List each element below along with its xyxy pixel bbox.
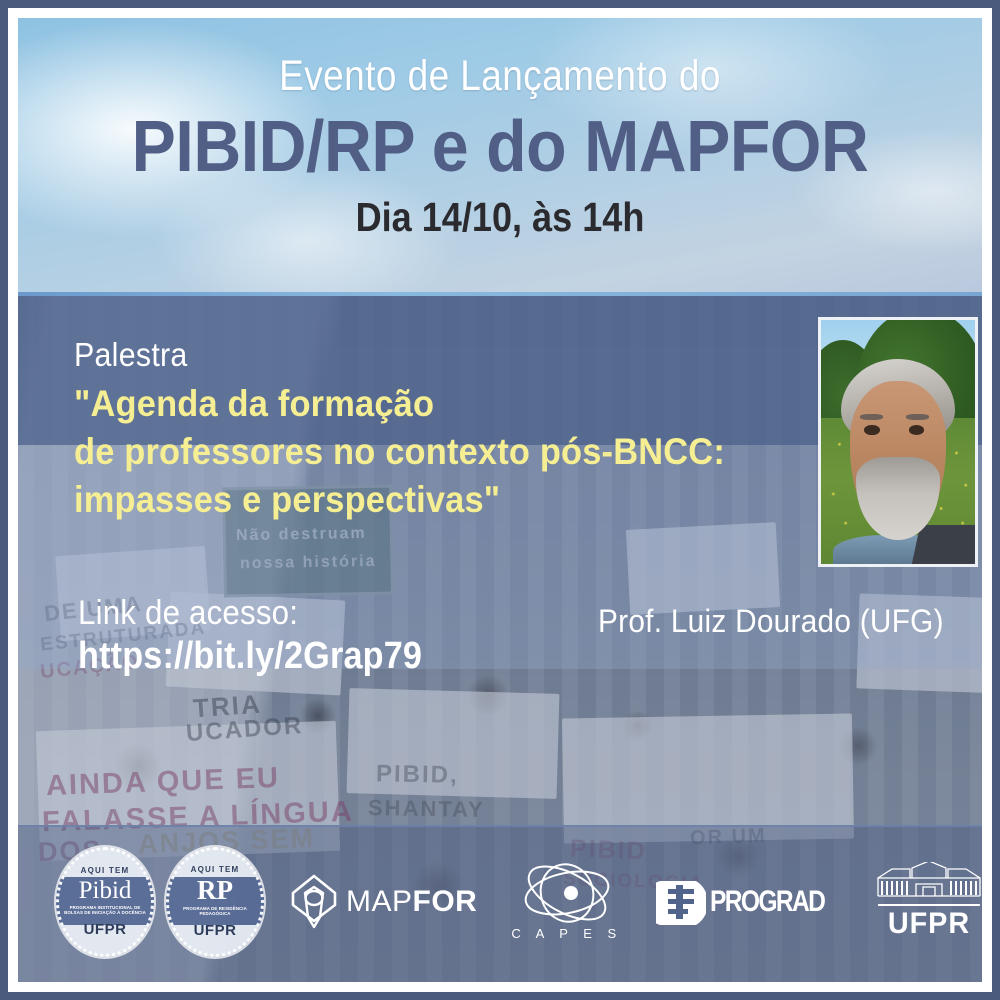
page-title: PIBID/RP e do MAPFOR	[57, 111, 944, 183]
access-link-block: Link de acesso: https://bit.ly/2Grap79	[78, 594, 460, 678]
prograd-mark-icon	[656, 875, 706, 929]
pibid-seal-institution: UFPR	[56, 921, 154, 938]
rp-seal-institution: UFPR	[166, 922, 264, 939]
protest-banner	[562, 713, 854, 843]
event-kicker: Evento de Lançamento do	[85, 54, 914, 99]
capes-atom-icon	[521, 862, 613, 924]
poster-root: TRIAUCADORAINDA QUE EUFALASSE A LÍNGUADO…	[0, 0, 1000, 1000]
portrait-eye	[864, 425, 879, 435]
prograd-logo: PROGRAD	[656, 875, 849, 929]
rp-seal: AQUI TEM RP PROGRAMA DE RESIDÊNCIA PEDAG…	[166, 847, 264, 957]
mapfor-logo: MAPFOR	[290, 873, 477, 931]
pibid-seal-subtitle: PROGRAMA INSTITUCIONAL DE BOLSAS DE INIC…	[56, 905, 154, 916]
talk-title: "Agenda da formação de professores no co…	[74, 380, 725, 524]
mapfor-mark-icon	[290, 873, 338, 931]
poster-header: Evento de Lançamento do PIBID/RP e do MA…	[18, 18, 982, 296]
speaker-name: Prof. Luiz Dourado (UFG)	[598, 603, 944, 640]
capes-wordmark: C A P E S	[511, 926, 622, 941]
pibid-seal: AQUI TEM Pibid PROGRAMA INSTITUCIONAL DE…	[56, 847, 154, 957]
ufpr-wordmark: UFPR	[878, 904, 980, 941]
event-datetime: Dia 14/10, às 14h	[76, 197, 924, 238]
pibid-seal-wordmark: Pibid	[56, 878, 154, 903]
pibid-seal-top-label: AQUI TEM	[56, 866, 154, 875]
poster-canvas: TRIAUCADORAINDA QUE EUFALASSE A LÍNGUADO…	[18, 18, 982, 982]
partner-logo-strip: AQUI TEM Pibid PROGRAMA INSTITUCIONAL DE…	[18, 825, 982, 982]
portrait-eye	[909, 425, 924, 435]
rp-seal-wordmark: RP	[166, 877, 264, 904]
mapfor-wordmark: MAPFOR	[346, 885, 477, 919]
ufpr-building-icon	[876, 862, 982, 902]
protest-sign-text: TRIA	[192, 689, 263, 725]
ufpr-logo: UFPR	[876, 862, 982, 941]
talk-block: Palestra "Agenda da formação de professo…	[74, 336, 774, 524]
protest-sign-text: SHANTAY	[368, 795, 485, 823]
protest-banner	[626, 522, 780, 615]
rp-logo: AQUI TEM RP PROGRAMA DE RESIDÊNCIA PEDAG…	[166, 847, 264, 957]
mapfor-wordmark-light: MAP	[346, 885, 413, 918]
capes-logo: C A P E S	[511, 862, 622, 941]
rp-seal-top-label: AQUI TEM	[166, 865, 264, 874]
portrait-eyebrow	[860, 414, 883, 420]
prograd-wordmark: PROGRAD	[710, 885, 824, 919]
pibid-logo: AQUI TEM Pibid PROGRAMA INSTITUCIONAL DE…	[56, 847, 154, 957]
talk-label: Palestra	[74, 336, 718, 374]
access-link-url[interactable]: https://bit.ly/2Grap79	[78, 635, 422, 678]
rp-seal-subtitle: PROGRAMA DE RESIDÊNCIA PEDAGÓGICA	[166, 906, 264, 917]
protest-banner	[347, 688, 560, 799]
mapfor-wordmark-bold: FOR	[413, 885, 478, 918]
access-link-label: Link de acesso:	[78, 594, 430, 633]
portrait-eyebrow	[906, 414, 929, 420]
poster-white-frame: TRIAUCADORAINDA QUE EUFALASSE A LÍNGUADO…	[8, 8, 992, 992]
speaker-portrait-photo	[818, 317, 978, 567]
portrait-jacket	[912, 525, 978, 564]
